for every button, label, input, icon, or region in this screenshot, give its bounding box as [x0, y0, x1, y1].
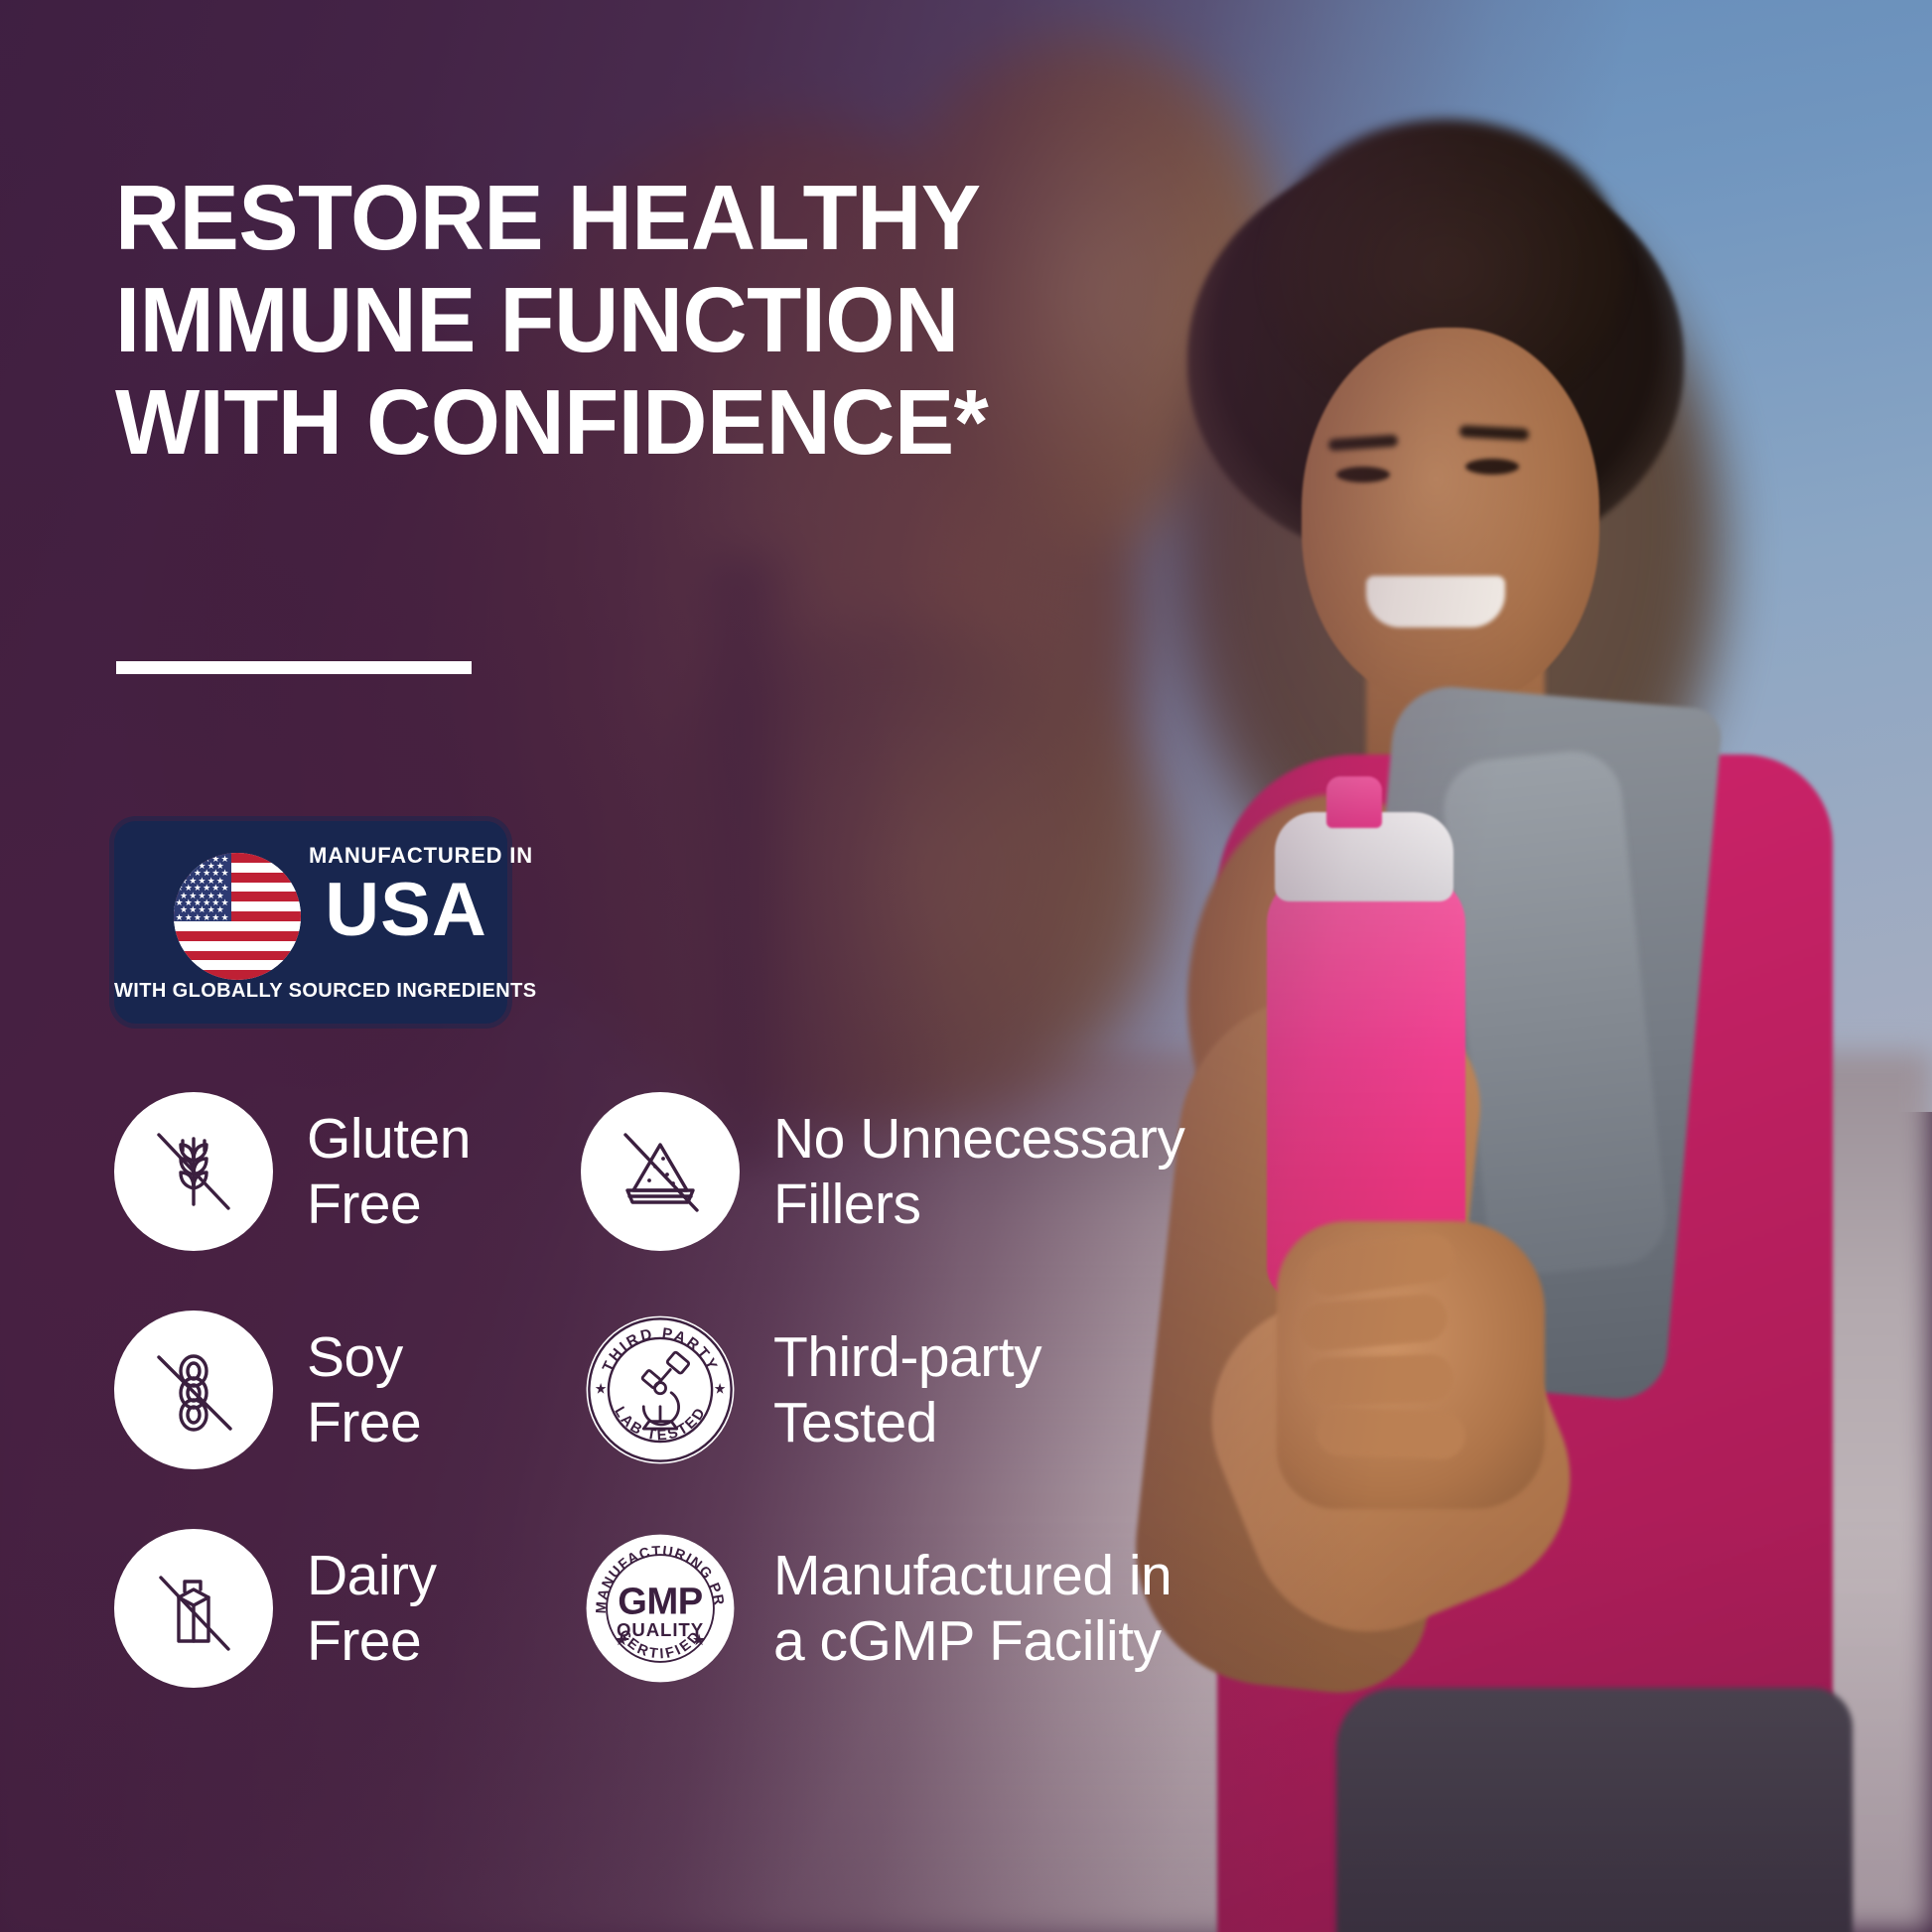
feature-label-line-1: Dairy [307, 1543, 437, 1608]
usa-badge-text: MANUFACTURED IN USA [309, 843, 503, 950]
feature-item-no-fillers: No Unnecessary Fillers [581, 1092, 1276, 1251]
marketing-banner: RESTORE HEALTHY IMMUNE FUNCTION WITH CON… [0, 0, 1932, 1932]
feature-label: Gluten Free [307, 1106, 471, 1237]
feature-label: Manufactured in a cGMP Facility [773, 1543, 1172, 1674]
feature-label-line-1: No Unnecessary [773, 1106, 1184, 1172]
feature-label: Soy Free [307, 1324, 421, 1455]
powder-dish-slash-icon [581, 1092, 740, 1251]
third-party-lab-tested-seal-icon: THIRD PARTY LAB TESTED [581, 1311, 740, 1469]
feature-label-line-2: Free [307, 1390, 421, 1455]
content-layer: RESTORE HEALTHY IMMUNE FUNCTION WITH CON… [0, 0, 1932, 1932]
usa-flag-roundel-icon: ★★★★★★★★★★★★★★★★★★★★★★★★★★★★★★★★★★★★★★★★… [174, 853, 301, 980]
milk-carton-slash-icon [114, 1529, 273, 1688]
feature-label: Dairy Free [307, 1543, 437, 1674]
feature-label-line-2: a cGMP Facility [773, 1608, 1172, 1674]
feature-item-gluten-free: Gluten Free [114, 1092, 581, 1251]
divider [116, 661, 472, 674]
headline-line-3: WITH CONFIDENCE* [115, 371, 1078, 474]
svg-text:QUALITY: QUALITY [617, 1619, 704, 1640]
feature-label-line-2: Free [307, 1172, 471, 1237]
feature-label-line-2: Free [307, 1608, 437, 1674]
usa-badge-subtext: WITH GLOBALLY SOURCED INGREDIENTS [114, 980, 507, 1003]
feature-label-line-1: Gluten [307, 1106, 471, 1172]
gmp-certified-seal-icon: GOOD MANUFACTURING PRACTICE CERTIFIED GM… [581, 1529, 740, 1688]
feature-row: Soy Free [114, 1311, 1286, 1469]
feature-item-cgmp-facility: GOOD MANUFACTURING PRACTICE CERTIFIED GM… [581, 1529, 1276, 1688]
feature-label-line-1: Manufactured in [773, 1543, 1172, 1608]
feature-label: No Unnecessary Fillers [773, 1106, 1184, 1237]
feature-label-line-1: Third-party [773, 1324, 1041, 1390]
feature-row: Dairy Free [114, 1529, 1286, 1688]
headline-line-1: RESTORE HEALTHY [115, 167, 1078, 269]
page-title: RESTORE HEALTHY IMMUNE FUNCTION WITH CON… [115, 167, 1078, 474]
feature-label-line-1: Soy [307, 1324, 421, 1390]
feature-label-line-2: Fillers [773, 1172, 1184, 1237]
wheat-slash-icon [114, 1092, 273, 1251]
headline-line-2: IMMUNE FUNCTION [115, 269, 1078, 371]
feature-item-soy-free: Soy Free [114, 1311, 581, 1469]
usa-badge-eyebrow: MANUFACTURED IN [309, 843, 503, 869]
feature-label: Third-party Tested [773, 1324, 1041, 1455]
feature-list: Gluten Free [114, 1092, 1286, 1747]
soybean-slash-icon [114, 1311, 273, 1469]
feature-label-line-2: Tested [773, 1390, 1041, 1455]
usa-badge-country: USA [309, 871, 503, 950]
feature-item-dairy-free: Dairy Free [114, 1529, 581, 1688]
feature-row: Gluten Free [114, 1092, 1286, 1251]
manufactured-in-usa-badge: ★★★★★★★★★★★★★★★★★★★★★★★★★★★★★★★★★★★★★★★★… [114, 821, 507, 1024]
feature-item-third-party-tested: THIRD PARTY LAB TESTED [581, 1311, 1276, 1469]
svg-text:GMP: GMP [618, 1581, 702, 1623]
